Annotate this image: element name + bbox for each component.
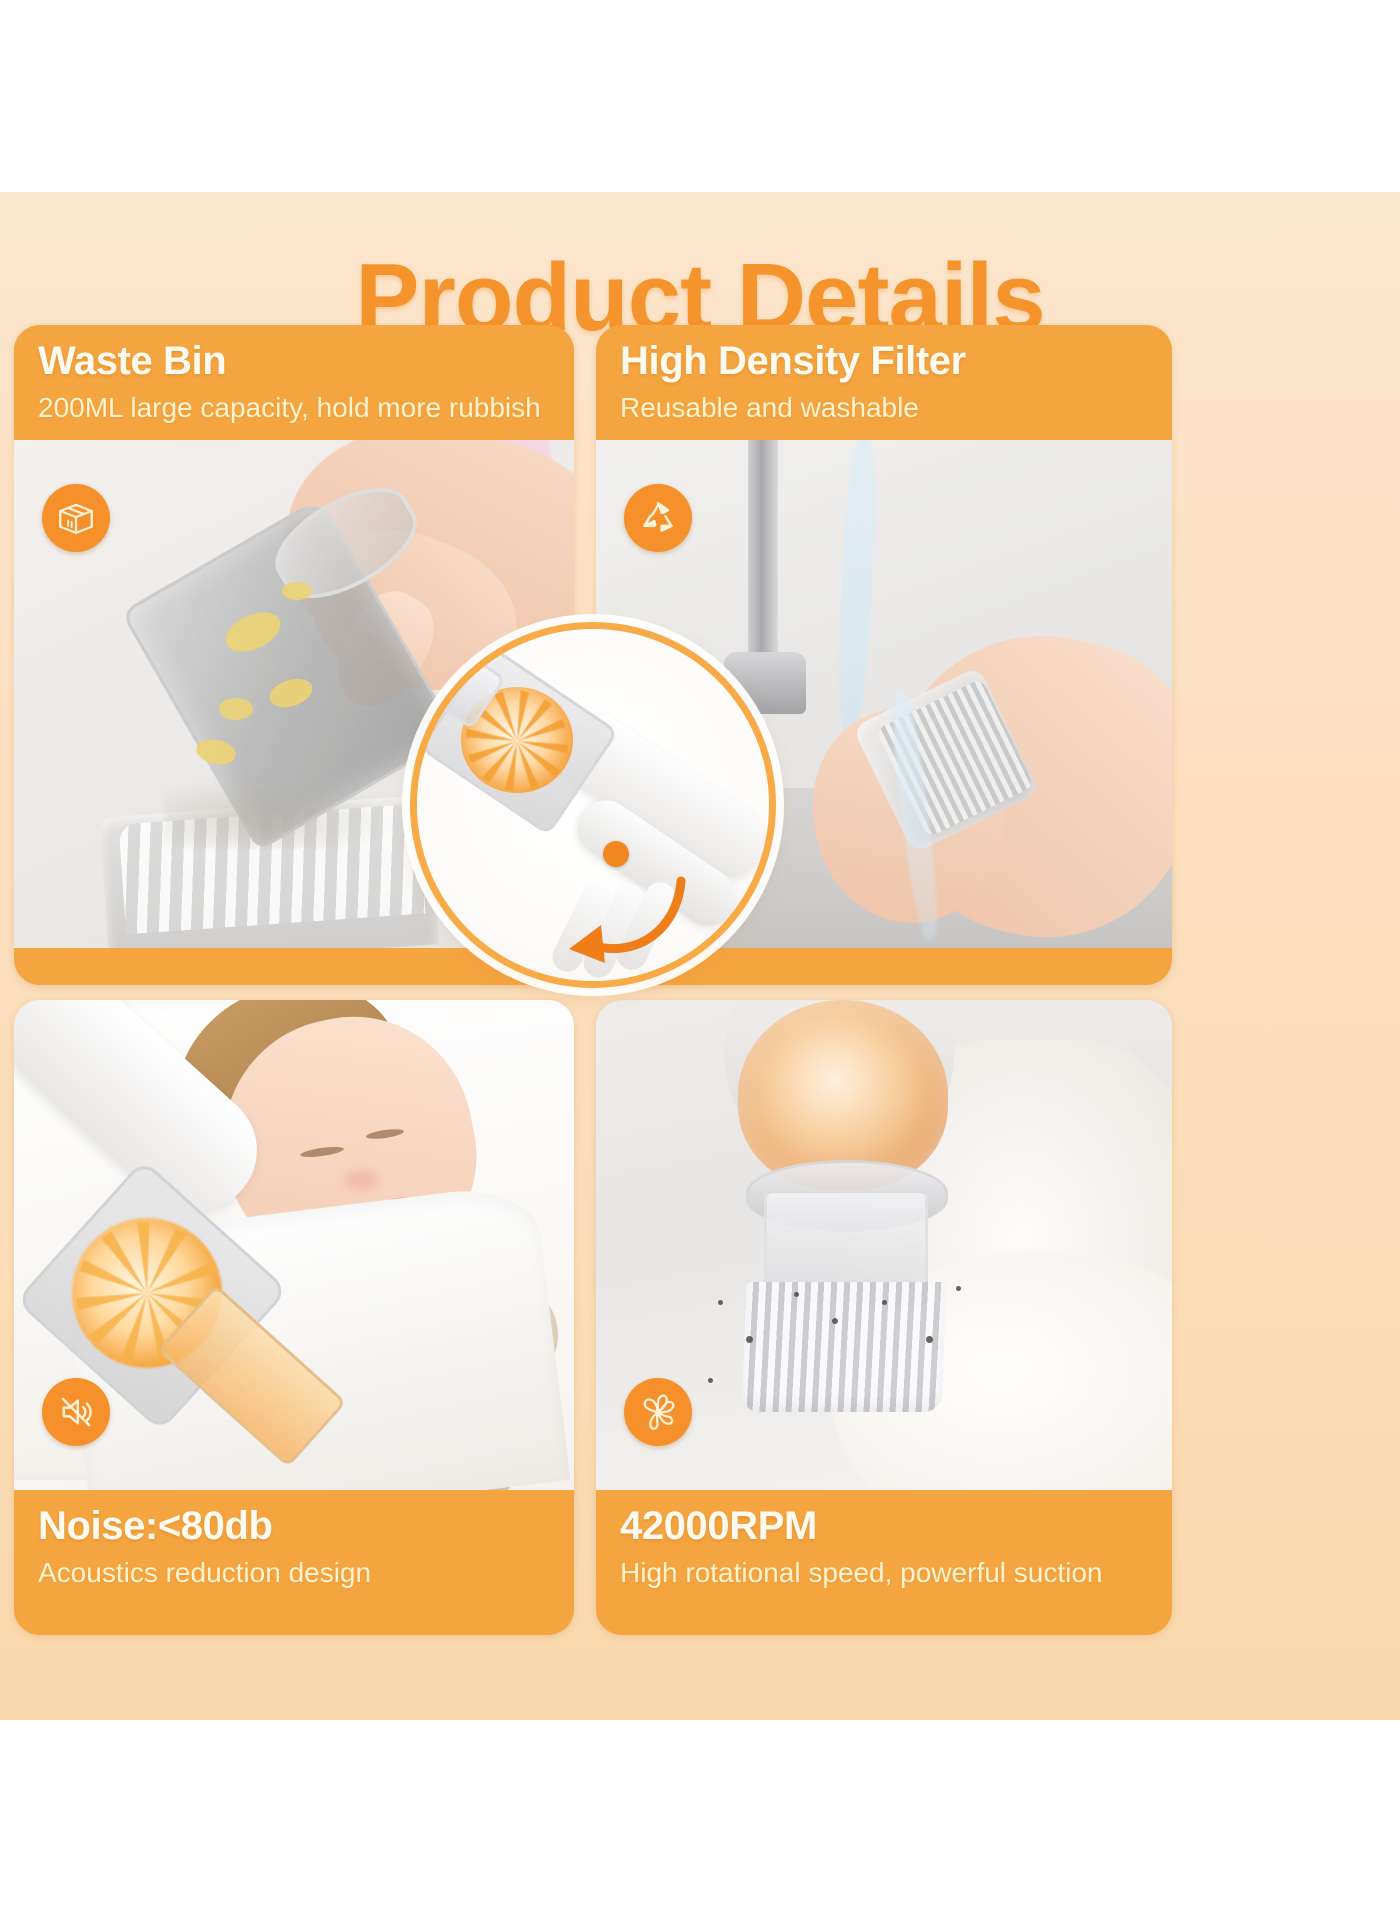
power-button[interactable] [603, 841, 629, 867]
card-subtitle: 200ML large capacity, hold more rubbish [38, 391, 552, 425]
mute-speaker-icon [42, 1378, 110, 1446]
card-footer: 42000RPM High rotational speed, powerful… [596, 1490, 1172, 1609]
card-subtitle: Reusable and washable [620, 391, 1150, 425]
card-header: Waste Bin 200ML large capacity, hold mor… [14, 325, 574, 440]
card-subtitle: High rotational speed, powerful suction [620, 1556, 1150, 1590]
rotation-arrow-icon [557, 875, 693, 967]
fan-blade-icon [624, 1378, 692, 1446]
card-photo [596, 1000, 1172, 1490]
card-title: Waste Bin [38, 339, 552, 384]
card-header: High Density Filter Reusable and washabl… [596, 325, 1172, 440]
feature-card-rpm[interactable]: 42000RPM High rotational speed, powerful… [596, 1000, 1172, 1635]
card-subtitle: Acoustics reduction design [38, 1556, 552, 1590]
product-details-page: Product Details Waste Bin 200ML large ca… [0, 0, 1400, 1909]
feature-card-noise[interactable]: Noise:<80db Acoustics reduction design [14, 1000, 574, 1635]
card-title: Noise:<80db [38, 1504, 552, 1549]
card-title: 42000RPM [620, 1504, 1150, 1549]
card-title: High Density Filter [620, 339, 1150, 384]
card-photo [14, 1000, 574, 1490]
product-closeup-inset [410, 622, 776, 988]
package-box-icon [42, 484, 110, 552]
recycle-icon [624, 484, 692, 552]
card-footer: Noise:<80db Acoustics reduction design [14, 1490, 574, 1609]
